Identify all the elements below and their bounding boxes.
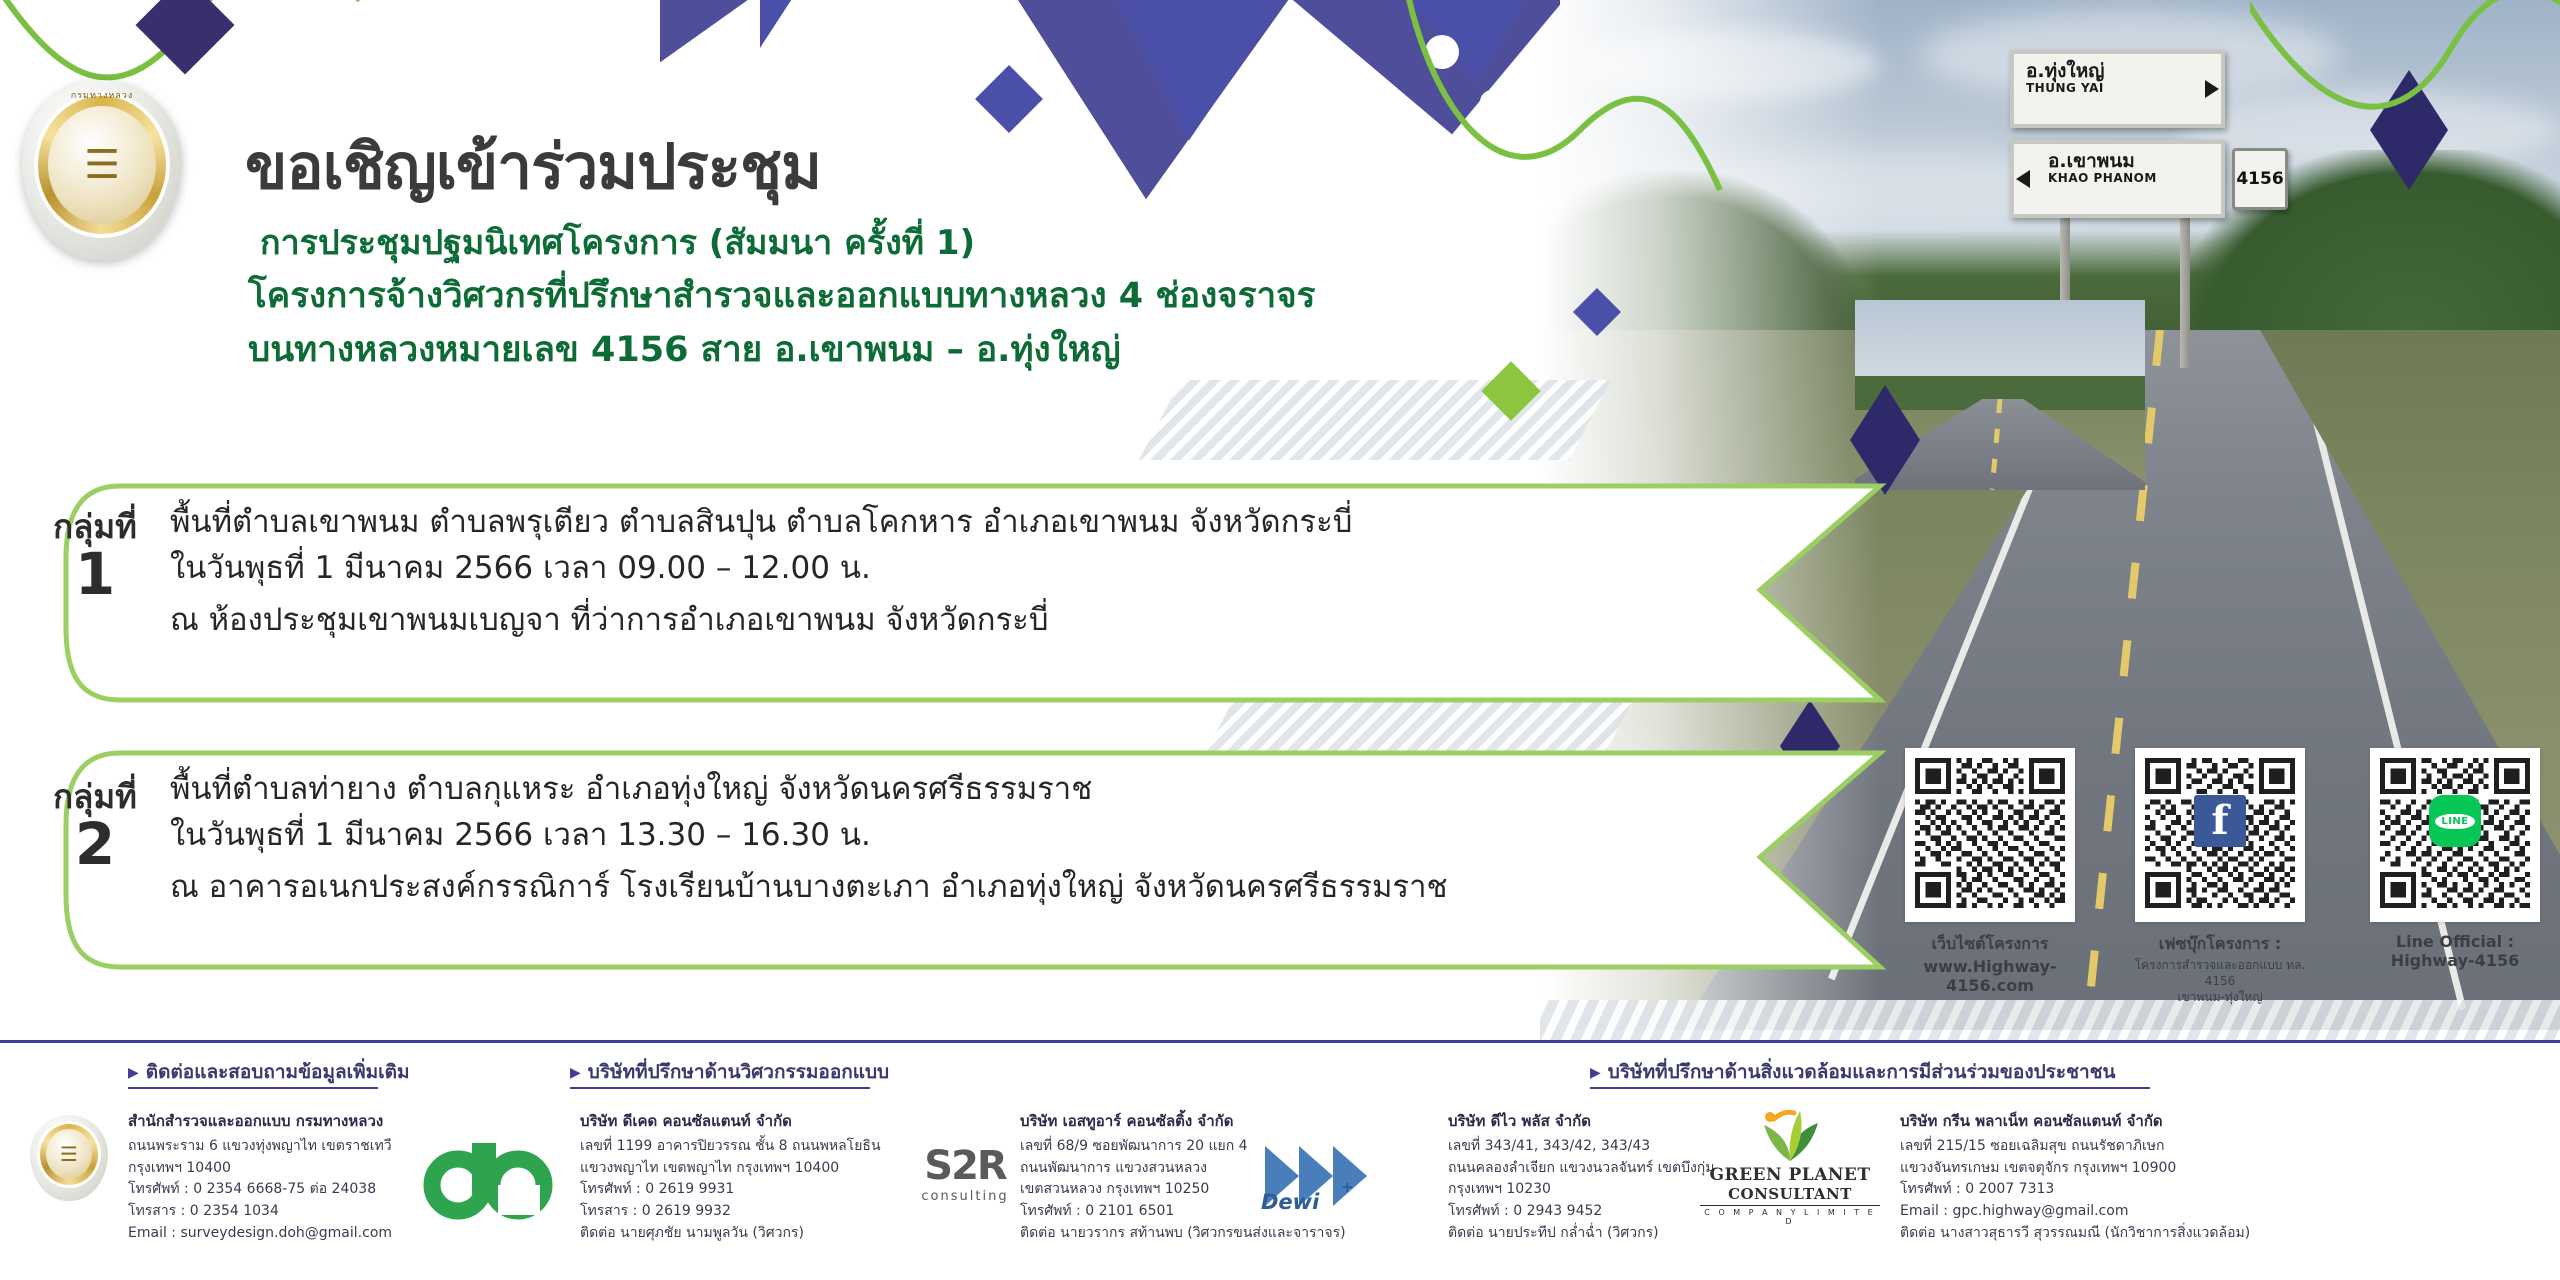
s2r-sub: consulting bbox=[900, 1189, 1030, 1204]
sign-thai-label-2: อ.เขาพนม bbox=[2048, 152, 2209, 172]
group-1-label: กลุ่มที่ 1 bbox=[30, 510, 160, 603]
group-2-label-word: กลุ่มที่ bbox=[30, 780, 160, 813]
footer: ติดต่อและสอบถามข้อมูลเพิ่มเติม บริษัทที่… bbox=[0, 1040, 2560, 1280]
line-badge-label: LINE bbox=[2435, 814, 2474, 829]
decor-diamond-navy-1 bbox=[975, 65, 1043, 133]
footer-rule-1 bbox=[128, 1087, 378, 1089]
qr-website-caption-2: www.Highway-4156.com bbox=[1890, 957, 2090, 995]
footer-heading-contact: ติดต่อและสอบถามข้อมูลเพิ่มเติม bbox=[128, 1057, 410, 1087]
qr-code-icon-facebook[interactable]: f bbox=[2135, 748, 2305, 922]
group-2-panel: พื้นที่ตำบลท่ายาง ตำบลกุแหระ อำเภอทุ่งให… bbox=[150, 755, 1870, 965]
footer-rule-3 bbox=[1590, 1087, 2150, 1089]
inset-sky bbox=[1855, 300, 2145, 386]
s2r-mark: S2R bbox=[900, 1143, 1030, 1189]
footer-dewi-line-1: เลขที่ 343/41, 343/42, 343/43 bbox=[1448, 1136, 1715, 1158]
footer-doh-line-1: ถนนพระราม 6 แขวงทุ่งพญาไท เขตราชเทวี bbox=[128, 1136, 392, 1158]
footer-heading-environment: บริษัทที่ปรึกษาด้านสิ่งแวดล้อมและการมีส่… bbox=[1590, 1057, 2116, 1087]
group-2-number: 2 bbox=[30, 815, 160, 873]
group-1-line-2: ในวันพุธที่ 1 มีนาคม 2566 เวลา 09.00 – 1… bbox=[170, 546, 871, 590]
footer-doh-line-5: Email : surveydesign.doh@gmail.com bbox=[128, 1223, 392, 1245]
qr-line-caption-1: Line Official : bbox=[2355, 932, 2555, 951]
decor-green-swoosh-mid bbox=[1380, 0, 1800, 260]
group-2-line-3: ณ อาคารอเนกประสงค์กรรณิการ์ โรงเรียนบ้าน… bbox=[170, 865, 1448, 909]
footer-gp-name: บริษัท กรีน พลาเน็ท คอนซัลแตนท์ จำกัด bbox=[1900, 1109, 2250, 1133]
footer-gp-line-4: Email : gpc.highway@gmail.com bbox=[1900, 1201, 2250, 1223]
arrow-right-icon bbox=[2205, 80, 2219, 98]
footer-dewi-line-5: ติดต่อ นายประทีป กล่ำฉ่ำ (วิศวกร) bbox=[1448, 1223, 1715, 1245]
footer-dc-line-4: โทรสาร : 0 2619 9932 bbox=[580, 1201, 881, 1223]
footer-dewi-line-4: โทรศัพท์ : 0 2943 9452 bbox=[1448, 1201, 1715, 1223]
footer-dc-line-2: แขวงพญาไท เขตพญาไท กรุงเทพฯ 10400 bbox=[580, 1158, 881, 1180]
qr-website-block[interactable]: เว็บไซต์โครงการ www.Highway-4156.com bbox=[1890, 748, 2090, 995]
footer-doh-line-2: กรุงเทพฯ 10400 bbox=[128, 1158, 392, 1180]
green-planet-line-1: GREEN PLANET bbox=[1700, 1165, 1880, 1185]
green-planet-consultant-logo-icon: GREEN PLANET CONSULTANT C O M P A N Y L … bbox=[1700, 1103, 1880, 1226]
footer-heading-engineering: บริษัทที่ปรึกษาด้านวิศวกรรมออกแบบ bbox=[570, 1057, 889, 1087]
qr-line-caption-2: Highway-4156 bbox=[2355, 951, 2555, 970]
arrow-left-icon bbox=[2016, 170, 2030, 188]
footer-dewi-line-3: กรุงเทพฯ 10230 bbox=[1448, 1179, 1715, 1201]
dc-consultant-logo-icon bbox=[410, 1133, 570, 1227]
dc-logo-shape bbox=[410, 1133, 570, 1223]
sign-english-label: THUNG YAI bbox=[2026, 82, 2187, 95]
footer-dc-line-1: เลขที่ 1199 อาคารปิยวรรณ ชั้น 8 ถนนพหลโย… bbox=[580, 1136, 881, 1158]
group-1-line-3: ณ ห้องประชุมเขาพนมเบญจา ที่ว่าการอำเภอเข… bbox=[170, 598, 1049, 642]
qr-facebook-block[interactable]: f เฟซบุ๊กโครงการ : โครงการสำรวจและออกแบบ… bbox=[2120, 748, 2320, 1006]
footer-doh-line-4: โทรสาร : 0 2354 1034 bbox=[128, 1201, 392, 1223]
page-title: ขอเชิญเข้าร่วมประชุม bbox=[245, 118, 821, 216]
footer-dewi-name: บริษัท ดีไว พลัส จำกัด bbox=[1448, 1109, 1715, 1133]
qr-code-icon[interactable] bbox=[1905, 748, 2075, 922]
footer-s2r-line-5: ติดต่อ นายวรากร สท้านพบ (วิศวกรขนส่งและจ… bbox=[1020, 1223, 1346, 1245]
footer-doh-name: สำนักสำรวจและออกแบบ กรมทางหลวง bbox=[128, 1109, 392, 1133]
footer-rule-2 bbox=[570, 1087, 870, 1089]
group-1-label-word: กลุ่มที่ bbox=[30, 510, 160, 543]
footer-dewi-line-2: ถนนคลองลำเจียก แขวงนวลจันทร์ เขตบึงกุ่ม bbox=[1448, 1158, 1715, 1180]
poster-root: อ.ทุ่งใหญ่ THUNG YAI อ.เขาพนม KHAO PHANO… bbox=[0, 0, 2560, 1280]
qr-website-image[interactable] bbox=[1915, 758, 2065, 908]
group-2-line-1: พื้นที่ตำบลท่ายาง ตำบลกุแหระ อำเภอทุ่งให… bbox=[170, 767, 1092, 811]
sign-pole-right bbox=[2180, 218, 2190, 368]
dewi-plus-logo-icon: Dewi + bbox=[1255, 1138, 1405, 1218]
green-planet-line-2: CONSULTANT bbox=[1700, 1185, 1880, 1203]
decor-hatch-3 bbox=[1540, 1000, 2560, 1045]
footer-column-dc: บริษัท ดีเคด คอนซัลแตนท์ จำกัด เลขที่ 11… bbox=[580, 1109, 881, 1244]
road-sign-thung-yai: อ.ทุ่งใหญ่ THUNG YAI bbox=[2010, 50, 2225, 128]
footer-gp-line-1: เลขที่ 215/15 ซอยเฉลิมสุข ถนนรัชดาภิเษก bbox=[1900, 1136, 2250, 1158]
footer-column-dewi: บริษัท ดีไว พลัส จำกัด เลขที่ 343/41, 34… bbox=[1448, 1109, 1715, 1244]
footer-dc-line-5: ติดต่อ นายศุภชัย นามพูลวัน (วิศวกร) bbox=[580, 1223, 881, 1245]
line-icon: LINE bbox=[2429, 795, 2481, 847]
group-2-label: กลุ่มที่ 2 bbox=[30, 780, 160, 873]
green-planet-leaf-icon bbox=[1730, 1103, 1850, 1165]
group-1-number: 1 bbox=[30, 545, 160, 603]
qr-line-block[interactable]: LINE Line Official : Highway-4156 bbox=[2355, 748, 2555, 970]
footer-gp-line-2: แขวงจันทรเกษม เขตจตุจักร กรุงเทพฯ 10900 bbox=[1900, 1158, 2250, 1180]
qr-facebook-caption-3: โครงการสำรวจและออกแบบ ทล. 4156 เขาพนม-ทุ… bbox=[2120, 957, 2320, 1006]
highway-shield-4156: 4156 bbox=[2232, 148, 2288, 210]
group-1-line-1: พื้นที่ตำบลเขาพนม ตำบลพรุเตียว ตำบลสินปุ… bbox=[170, 500, 1352, 544]
group-2-line-2: ในวันพุธที่ 1 มีนาคม 2566 เวลา 13.30 – 1… bbox=[170, 813, 871, 857]
road-sign-khao-phanom: อ.เขาพนม KHAO PHANOM bbox=[2010, 140, 2225, 218]
decor-green-swoosh-right bbox=[2250, 0, 2560, 220]
qr-code-icon-line[interactable]: LINE bbox=[2370, 748, 2540, 922]
footer-s2r-name: บริษัท เอสทูอาร์ คอนซัลติ้ง จำกัด bbox=[1020, 1109, 1346, 1133]
department-of-highways-seal-icon-footer: ☰ bbox=[30, 1115, 108, 1201]
footer-gp-line-5: ติดต่อ นางสาวสุธารวี สุวรรณมณี (นักวิชาก… bbox=[1900, 1223, 2250, 1245]
shield-number: 4156 bbox=[2236, 169, 2283, 189]
footer-column-doh: สำนักสำรวจและออกแบบ กรมทางหลวง ถนนพระราม… bbox=[128, 1109, 392, 1244]
subtitle-line-2: โครงการจ้างวิศวกรที่ปรึกษาสำรวจและออกแบบ… bbox=[248, 268, 1315, 323]
s2r-consulting-logo-icon: S2R consulting bbox=[900, 1143, 1030, 1204]
seal-caption: กรมทางหลวง bbox=[22, 88, 182, 102]
facebook-icon: f bbox=[2194, 795, 2246, 847]
decor-hatch-1 bbox=[1139, 380, 1612, 460]
footer-dc-name: บริษัท ดีเคด คอนซัลแตนท์ จำกัด bbox=[580, 1109, 881, 1133]
qr-facebook-caption-1: เฟซบุ๊กโครงการ : bbox=[2120, 932, 2320, 957]
footer-dc-line-3: โทรศัพท์ : 0 2619 9931 bbox=[580, 1179, 881, 1201]
sign-thai-label: อ.ทุ่งใหญ่ bbox=[2026, 62, 2187, 82]
footer-doh-line-3: โทรศัพท์ : 0 2354 6668-75 ต่อ 24038 bbox=[128, 1179, 392, 1201]
green-planet-line-3: C O M P A N Y L I M I T E D bbox=[1700, 1205, 1880, 1226]
subtitle-line-3: บนทางหลวงหมายเลข 4156 สาย อ.เขาพนม – อ.ท… bbox=[248, 322, 1121, 377]
subtitle-line-1: การประชุมปฐมนิเทศโครงการ (สัมมนา ครั้งที… bbox=[260, 215, 975, 269]
footer-column-green-planet: บริษัท กรีน พลาเน็ท คอนซัลแตนท์ จำกัด เล… bbox=[1900, 1109, 2250, 1244]
footer-gp-line-3: โทรศัพท์ : 0 2007 7313 bbox=[1900, 1179, 2250, 1201]
dewi-wordmark: Dewi bbox=[1261, 1190, 1319, 1214]
sign-english-label-2: KHAO PHANOM bbox=[2048, 172, 2209, 185]
group-1-panel: พื้นที่ตำบลเขาพนม ตำบลพรุเตียว ตำบลสินปุ… bbox=[150, 488, 1870, 698]
qr-website-caption-1: เว็บไซต์โครงการ bbox=[1890, 932, 2090, 957]
department-of-highways-seal-icon: ☰ กรมทางหลวง bbox=[22, 80, 182, 260]
